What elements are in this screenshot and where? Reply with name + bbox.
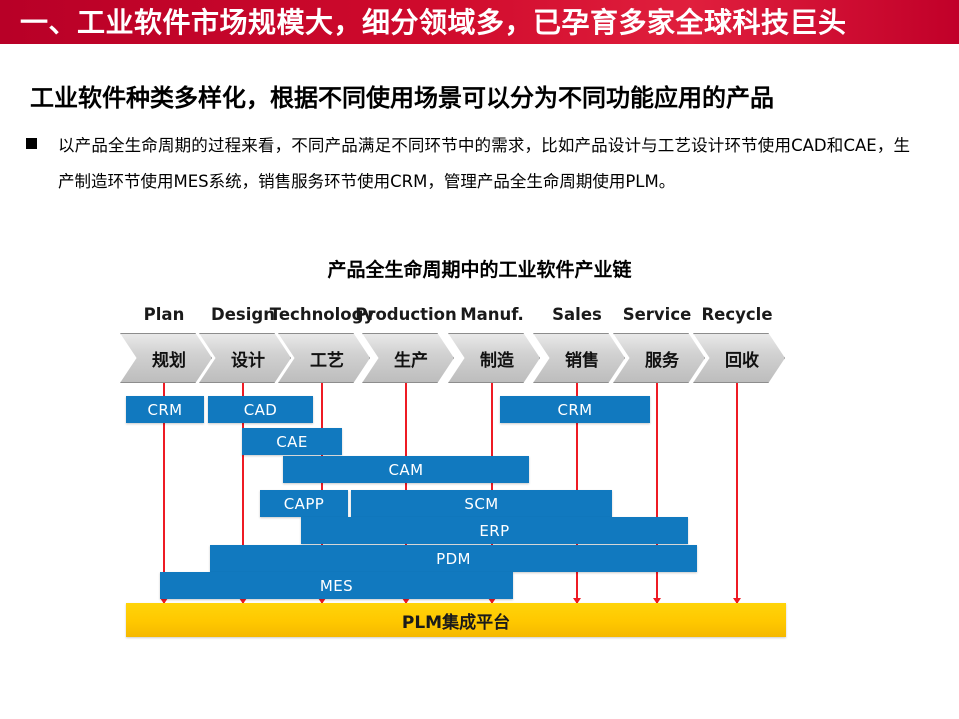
- stage-chevron-label: 服务: [639, 346, 679, 371]
- stage-header-manuf: Manuf.: [460, 305, 524, 324]
- software-bar-label: CAE: [276, 433, 307, 451]
- software-bar-label: CAD: [244, 401, 278, 419]
- stage-chevron-label: 设计: [225, 346, 265, 371]
- connector-line-8: [736, 381, 738, 603]
- software-bar-mes[interactable]: MES: [160, 572, 513, 599]
- stage-header-sales: Sales: [552, 305, 602, 324]
- diagram-title: 产品全生命周期中的工业软件产业链: [0, 255, 959, 282]
- square-bullet-icon: [26, 138, 37, 149]
- plm-platform-label: PLM集成平台: [402, 608, 510, 633]
- stage-header-plan: Plan: [144, 305, 185, 324]
- page-title: 一、工业软件市场规模大，细分领域多，已孕育多家全球科技巨头: [20, 3, 847, 43]
- section-subtitle: 工业软件种类多样化，根据不同使用场景可以分为不同功能应用的产品: [30, 78, 774, 113]
- lifecycle-diagram: 产品全生命周期中的工业软件产业链 PlanDesignTechnologyPro…: [0, 255, 959, 655]
- stage-chevron-7[interactable]: 服务: [613, 333, 705, 383]
- stage-chevron-label: 规划: [146, 346, 186, 371]
- stage-chevron-5[interactable]: 制造: [448, 333, 540, 383]
- software-bar-label: PDM: [436, 550, 471, 568]
- software-bar-label: CAM: [389, 461, 424, 479]
- software-bar-cae[interactable]: CAE: [242, 428, 342, 455]
- software-bar-label: CRM: [147, 401, 182, 419]
- software-bar-crm[interactable]: CRM: [126, 396, 204, 423]
- software-bar-label: ERP: [479, 522, 509, 540]
- plm-platform-bar[interactable]: PLM集成平台: [126, 603, 786, 637]
- stage-chevron-8[interactable]: 回收: [693, 333, 785, 383]
- stage-chevron-6[interactable]: 销售: [533, 333, 625, 383]
- software-bar-cam[interactable]: CAM: [283, 456, 529, 483]
- software-bar-label: SCM: [464, 495, 498, 513]
- header-banner: 一、工业软件市场规模大，细分领域多，已孕育多家全球科技巨头: [0, 0, 959, 47]
- software-bar-label: CAPP: [284, 495, 324, 513]
- software-bar-capp[interactable]: CAPP: [260, 490, 348, 517]
- stage-chevron-4[interactable]: 生产: [362, 333, 454, 383]
- software-bar-erp[interactable]: ERP: [301, 517, 688, 544]
- stage-header-production: Production: [355, 305, 457, 324]
- stage-chevron-label: 制造: [474, 346, 514, 371]
- stage-header-design: Design: [211, 305, 275, 324]
- software-bar-label: MES: [320, 577, 353, 595]
- bullet-text: 以产品全生命周期的过程来看，不同产品满足不同环节中的需求，比如产品设计与工艺设计…: [58, 128, 910, 200]
- stage-header-recycle: Recycle: [701, 305, 772, 324]
- software-bar-crm[interactable]: CRM: [500, 396, 650, 423]
- stage-chevron-label: 回收: [719, 346, 759, 371]
- software-bar-label: CRM: [557, 401, 592, 419]
- stage-chevron-3[interactable]: 工艺: [278, 333, 370, 383]
- stage-chevron-2[interactable]: 设计: [199, 333, 291, 383]
- software-bar-cad[interactable]: CAD: [208, 396, 313, 423]
- stage-chevron-label: 生产: [388, 346, 428, 371]
- stage-chevron-label: 工艺: [304, 346, 344, 371]
- stage-chevron-1[interactable]: 规划: [120, 333, 212, 383]
- stage-header-service: Service: [623, 305, 692, 324]
- software-bar-scm[interactable]: SCM: [351, 490, 612, 517]
- software-bar-pdm[interactable]: PDM: [210, 545, 697, 572]
- stage-chevron-label: 销售: [559, 346, 599, 371]
